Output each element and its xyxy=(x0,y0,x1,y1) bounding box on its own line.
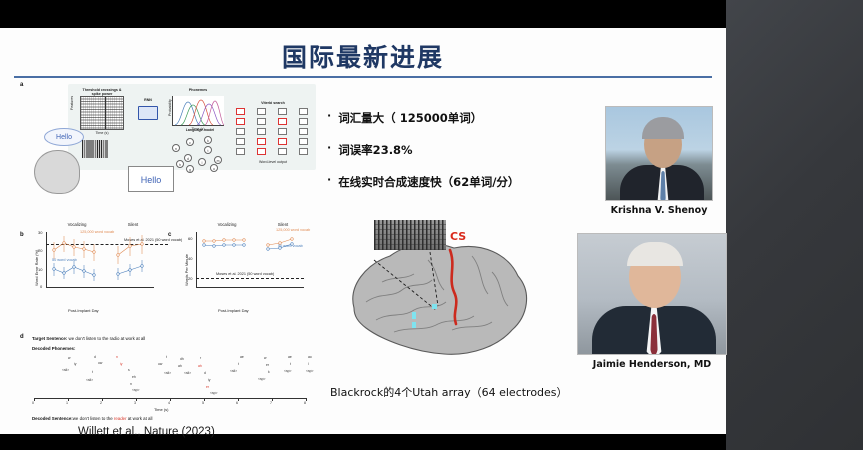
electrode-array-icon xyxy=(82,140,108,158)
cs-label: CS xyxy=(450,230,466,243)
label-rnn: RNN xyxy=(138,98,158,102)
bullet-marker: · xyxy=(327,110,331,123)
decoded-sentence: Decoded Sentence:we don't listen to the … xyxy=(32,416,152,421)
label-word-level-output: Word-level output xyxy=(236,160,310,164)
bullet-text: 词汇量大（ 125000单词） xyxy=(338,110,482,126)
panel-c-data xyxy=(196,232,308,288)
presentation-slide: 国际最新进展 · 词汇量大（ 125000单词） · 词误率23.8% · 在线… xyxy=(0,28,726,434)
participant-panel: 陈 使用者 xyxy=(726,0,863,450)
portrait-henderson: Jaimie Henderson, MD xyxy=(577,233,727,370)
brain-diagram: CS xyxy=(332,220,554,376)
portrait-image xyxy=(577,233,727,355)
head-outline xyxy=(34,150,80,194)
decoded-phonemes-label: Decoded Phonemes: xyxy=(32,346,75,351)
ytick-c-40: 40 xyxy=(188,256,192,261)
screen: 陈 使用者 国际最新进展 · 词汇量大（ 125000单词） · 词误率23.8… xyxy=(0,0,863,450)
xlabel-b: Post-Implant Day xyxy=(68,308,99,313)
portrait-caption: Jaimie Henderson, MD xyxy=(577,359,727,370)
bullet-text: 词误率23.8% xyxy=(338,142,412,158)
list-item: · 在线实时合成速度快（62单词/分） xyxy=(327,174,577,190)
ytick-b-0: 0 xyxy=(40,284,42,289)
thought-bubble: Hello xyxy=(44,128,84,146)
spike-raster xyxy=(80,96,124,130)
output-monitor: Hello xyxy=(128,166,174,192)
ytick-c-60: 60 xyxy=(188,236,192,241)
xtick-0: 0 xyxy=(32,401,34,405)
bullet-text: 在线实时合成速度快（62单词/分） xyxy=(338,174,519,190)
decoded-sentence-label: Decoded Sentence: xyxy=(32,416,73,421)
xtick-6: 6 xyxy=(236,401,238,405)
bullet-marker: · xyxy=(327,142,331,155)
group-label-silent-b: Silent xyxy=(116,222,150,227)
decoded-sentence-error: reader xyxy=(114,416,127,421)
panel-letter-b: b xyxy=(20,232,24,238)
utah-array-icon xyxy=(374,220,446,250)
portrait-caption: Krishna V. Shenoy xyxy=(605,205,713,216)
phoneme-probability-plot xyxy=(172,96,224,126)
rnn-box xyxy=(138,106,158,120)
xlabel-d: Time (s) xyxy=(154,407,169,412)
ytick-b-20: 20 xyxy=(38,248,42,253)
list-item: · 词误率23.8% xyxy=(327,142,577,158)
panel-letter-d: d xyxy=(20,334,24,340)
decoded-sentence-suffix: at work at all xyxy=(127,416,153,421)
decoded-phonemes-label-text: Decoded Phonemes: xyxy=(32,346,75,351)
xtick-8: 8 xyxy=(304,401,306,405)
letterbox-top xyxy=(0,0,726,28)
language-model-graph: c k n t d h l m g u xyxy=(170,132,230,168)
ytick-b-10: 10 xyxy=(38,267,42,272)
target-sentence-label: Target Sentence: xyxy=(32,336,67,341)
xtick-5: 5 xyxy=(202,401,204,405)
ytick-b-30: 30 xyxy=(38,230,42,235)
nature-figure: a Threshold crossings & spike power Time… xyxy=(20,80,320,420)
bullet-marker: · xyxy=(327,174,331,187)
panel-b-data xyxy=(46,232,158,288)
xtick-4: 4 xyxy=(168,401,170,405)
list-item: · 词汇量大（ 125000单词） xyxy=(327,110,577,126)
label-features: Features xyxy=(70,96,74,110)
panel-letter-c: c xyxy=(168,232,171,238)
page-title: 国际最新进展 xyxy=(0,38,726,74)
xtick-3: 3 xyxy=(134,401,136,405)
bullet-list: · 词汇量大（ 125000单词） · 词误率23.8% · 在线实时合成速度快… xyxy=(327,110,577,206)
xtick-2: 2 xyxy=(100,401,102,405)
label-phonemes: Phonemes xyxy=(172,88,224,92)
array-caption: Blackrock的4个Utah array（64 electrodes） xyxy=(330,384,568,400)
xtick-1: 1 xyxy=(66,401,68,405)
viterbi-lattice xyxy=(236,108,310,156)
target-sentence-text: we don't listen to the radio at work at … xyxy=(69,336,146,341)
citation: Willett et al., Nature (2023) xyxy=(78,426,215,438)
portrait-shenoy: Krishna V. Shenoy xyxy=(605,106,713,216)
hair xyxy=(642,117,684,139)
title-divider xyxy=(14,76,712,78)
xtick-7: 7 xyxy=(270,401,272,405)
panel-letter-a: a xyxy=(20,82,23,88)
label-viterbi-search: Viterbi search xyxy=(236,101,310,105)
group-label-silent-c: Silent xyxy=(266,222,300,227)
ytick-c-20: 20 xyxy=(188,276,192,281)
target-sentence: Target Sentence: we don't listen to the … xyxy=(32,336,145,341)
subject-illustration: Hello xyxy=(22,126,108,198)
group-label-vocalizing-c: Vocalizing xyxy=(200,222,254,227)
decoded-sentence-prefix: we don't listen to the xyxy=(73,416,114,421)
phoneme-scatter: w iy d ow <sil> n iy t <sil> s eh n <sp>… xyxy=(32,354,312,394)
group-label-vocalizing-b: Vocalizing xyxy=(50,222,104,227)
xlabel-c: Post-Implant Day xyxy=(218,308,249,313)
label-probability: Probability xyxy=(168,99,172,116)
hair xyxy=(627,242,683,266)
portrait-image xyxy=(605,106,713,201)
